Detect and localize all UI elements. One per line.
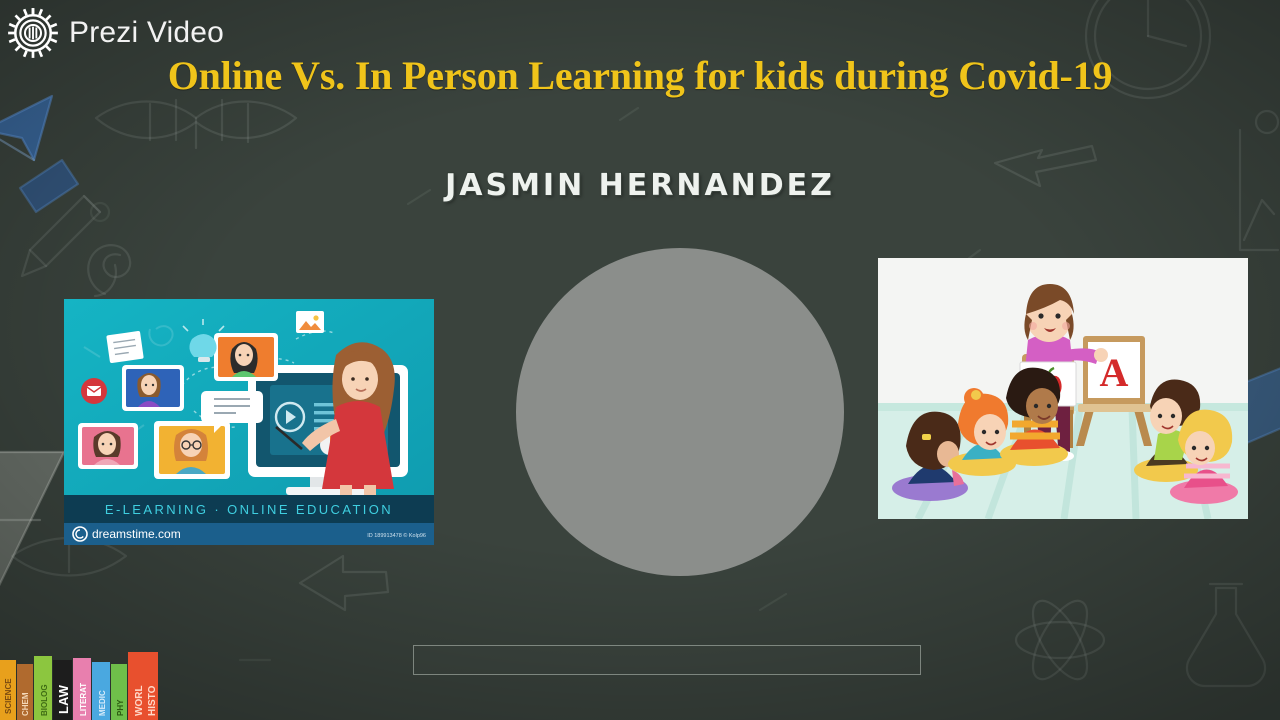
svg-text:CHEM: CHEM bbox=[21, 692, 30, 716]
atom-doodle bbox=[1016, 593, 1104, 687]
spiral-doodle bbox=[88, 245, 130, 294]
presenter-name-text: JASMIN HERNANDEZ bbox=[445, 168, 835, 203]
student-card-orange bbox=[214, 333, 278, 381]
svg-text:MEDIC: MEDIC bbox=[98, 690, 107, 716]
note-icon bbox=[106, 331, 144, 363]
media-image-in-person-classroom[interactable]: A bbox=[878, 258, 1248, 519]
book-shelf-decoration: SCIENCE CHEM BIOLOG LAW LITERAT MEDIC PH… bbox=[0, 642, 168, 720]
svg-text:SCIENCE: SCIENCE bbox=[4, 678, 13, 714]
mail-icon bbox=[81, 378, 107, 404]
prezi-video-branding: Prezi Video bbox=[6, 6, 224, 60]
svg-text:ID 189913478 © Kolp96: ID 189913478 © Kolp96 bbox=[367, 532, 426, 539]
svg-text:PHY: PHY bbox=[116, 699, 125, 716]
presenter-name: JASMIN HERNANDEZ bbox=[0, 168, 1280, 203]
svg-text:HISTO: HISTO bbox=[147, 685, 158, 716]
svg-text:BIOLOG: BIOLOG bbox=[40, 684, 49, 716]
svg-text:LITERAT: LITERAT bbox=[79, 683, 88, 716]
svg-text:WORL: WORL bbox=[134, 685, 145, 716]
media-left-caption: E-LEARNING · ONLINE EDUCATION bbox=[105, 502, 393, 517]
prezi-video-slide: SCIENCE CHEM BIOLOG LAW LITERAT MEDIC PH… bbox=[0, 0, 1280, 720]
prezi-sunburst-icon bbox=[6, 6, 60, 60]
student-card-yellow bbox=[154, 421, 230, 479]
arrow-doodle bbox=[300, 556, 388, 610]
flask-doodle bbox=[1187, 584, 1265, 686]
thumb-picture-icon bbox=[296, 311, 324, 333]
student-card-pink bbox=[78, 423, 138, 469]
pencil-doodle bbox=[22, 196, 100, 276]
spiral-doodle-2 bbox=[95, 265, 116, 296]
svg-text:LAW: LAW bbox=[56, 684, 71, 714]
prezi-video-label: Prezi Video bbox=[69, 16, 224, 50]
triangle-ruler-doodle bbox=[0, 452, 64, 600]
open-book-doodle bbox=[96, 100, 296, 148]
media-image-online-learning[interactable]: E-LEARNING · ONLINE EDUCATION dreamstime… bbox=[64, 299, 434, 545]
svg-text:dreamstime.com: dreamstime.com bbox=[92, 527, 181, 541]
presenter-webcam-circle[interactable] bbox=[516, 248, 844, 576]
caption-text-placeholder[interactable] bbox=[413, 645, 921, 675]
student-card-blue bbox=[122, 365, 184, 411]
